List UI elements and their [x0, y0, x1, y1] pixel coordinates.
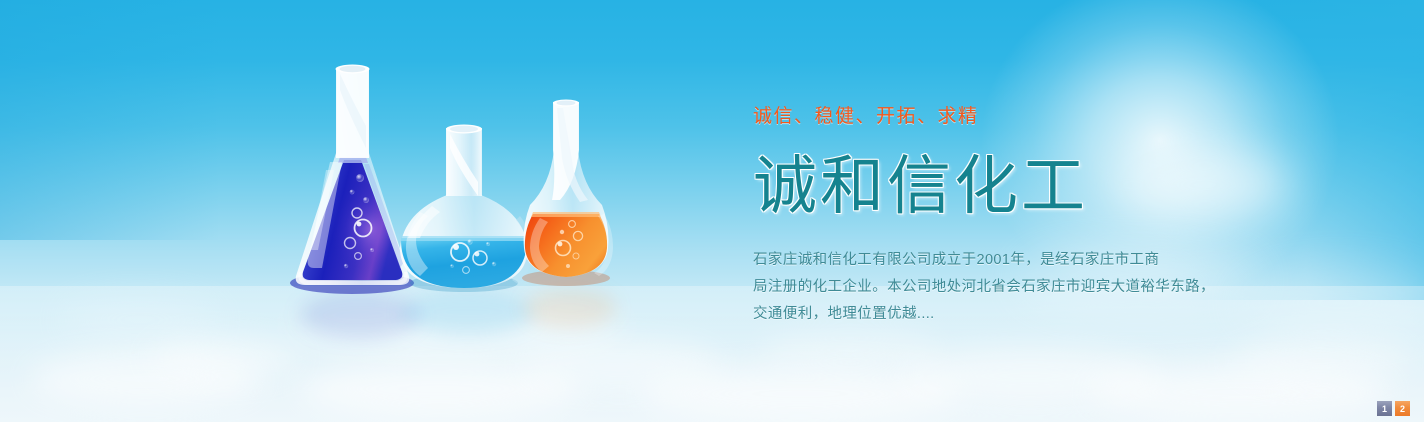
pagination-dot-1[interactable]: 1: [1377, 401, 1392, 416]
carousel-pagination[interactable]: 1 2: [1377, 401, 1410, 416]
round-bottom-flask: [400, 125, 532, 293]
conical-flask: [290, 65, 414, 295]
chemistry-flasks-illustration: [0, 0, 700, 330]
banner-copy: 诚信、稳健、开拓、求精 诚和信化工 石家庄诚和信化工有限公司成立于2001年，是…: [753, 104, 1313, 328]
pagination-dot-2[interactable]: 2: [1395, 401, 1410, 416]
pear-shaped-flask: [522, 100, 613, 287]
description-line: 交通便利，地理位置优越....: [753, 301, 1313, 328]
description-line: 局注册的化工企业。本公司地处河北省会石家庄市迎宾大道裕华东路，: [753, 274, 1313, 301]
hero-banner: 诚信、稳健、开拓、求精 诚和信化工 石家庄诚和信化工有限公司成立于2001年，是…: [0, 0, 1424, 422]
banner-title: 诚和信化工: [753, 153, 1313, 219]
banner-tagline: 诚信、稳健、开拓、求精: [753, 104, 1313, 130]
description-line: 石家庄诚和信化工有限公司成立于2001年，是经石家庄市工商: [753, 247, 1313, 274]
banner-description: 石家庄诚和信化工有限公司成立于2001年，是经石家庄市工商 局注册的化工企业。本…: [753, 247, 1313, 328]
